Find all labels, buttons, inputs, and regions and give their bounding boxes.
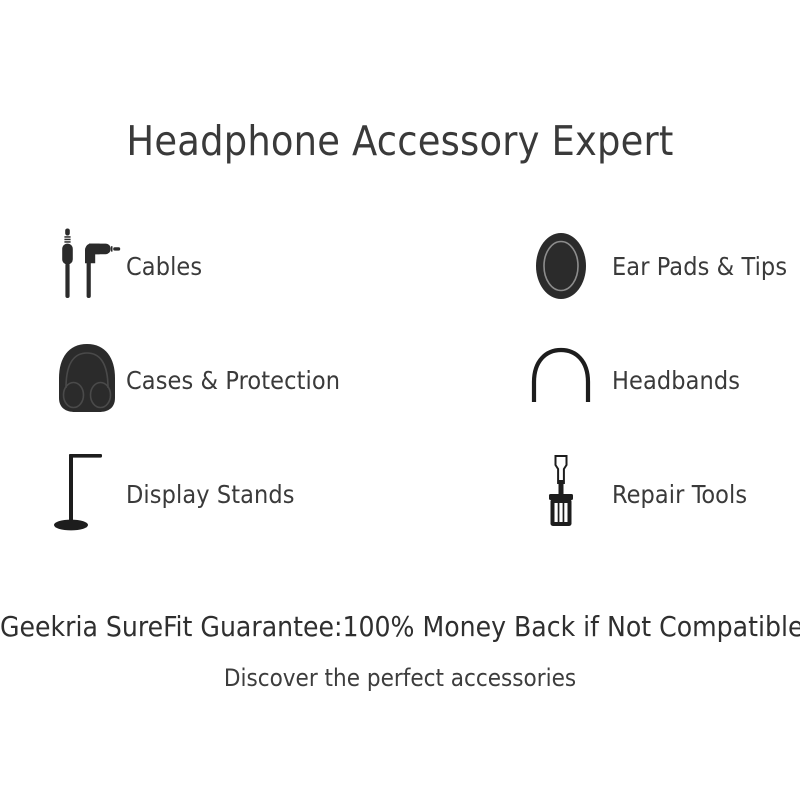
category-item-repair-tools[interactable]: Repair Tools [522, 446, 747, 542]
guarantee-text: Geekria SureFit Guarantee:100% Money Bac… [0, 610, 800, 643]
accessory-poster: Headphone Accessory Expert [0, 0, 800, 800]
audio-jack-cables-icon [48, 221, 126, 311]
headband-arc-icon [522, 335, 600, 425]
category-item-display-stands[interactable]: Display Stands [48, 446, 295, 542]
headphone-stand-icon [48, 449, 126, 539]
category-label: Headbands [612, 368, 740, 393]
category-label: Cases & Protection [126, 368, 340, 393]
ear-pad-oval-icon [522, 221, 600, 311]
category-item-headbands[interactable]: Headbands [522, 332, 740, 428]
category-label: Display Stands [126, 482, 295, 507]
category-item-cases-protection[interactable]: Cases & Protection [48, 332, 340, 428]
category-item-ear-pads-tips[interactable]: Ear Pads & Tips [522, 218, 787, 314]
page-title: Headphone Accessory Expert [0, 118, 800, 165]
category-label: Repair Tools [612, 482, 747, 507]
screwdriver-icon [522, 449, 600, 539]
category-label: Cables [126, 254, 202, 279]
category-label: Ear Pads & Tips [612, 254, 787, 279]
tagline-text: Discover the perfect accessories [0, 664, 800, 692]
category-grid: Cables Ear Pads & Tips Cas [0, 218, 800, 558]
category-item-cables[interactable]: Cables [48, 218, 202, 314]
headphone-case-icon [48, 335, 126, 425]
